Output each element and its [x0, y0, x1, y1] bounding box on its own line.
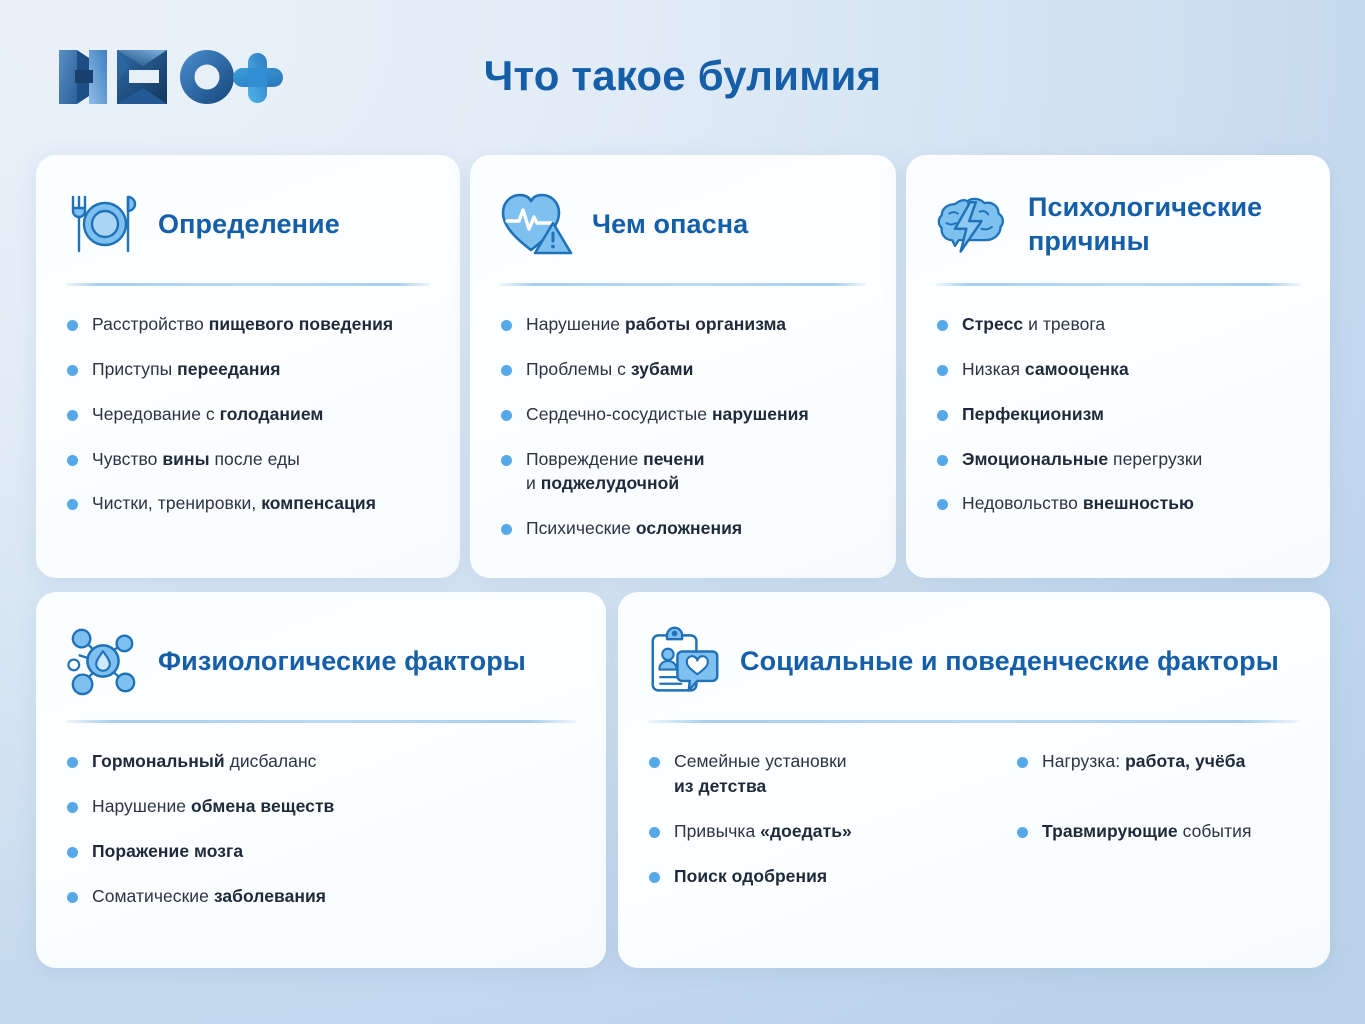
bullet-list: Расстройство пищевого поведения Приступы… [36, 286, 460, 516]
card-social: Социальные и поведенческие факторы Семей… [618, 592, 1330, 968]
bullet-bold: голоданием [220, 404, 324, 424]
bullet-bold: работы организма [625, 314, 786, 334]
bullet-list: Нарушение работы организма Проблемы с зу… [470, 286, 896, 541]
bullet-bold: обмена веществ [191, 796, 334, 816]
list-item: Соматические заболевания [64, 884, 578, 909]
bullet-text: Семейные установки [674, 751, 847, 771]
card-title: Физиологические факторы [158, 644, 526, 678]
list-item: Сердечно-сосудистые нарушения [498, 402, 868, 427]
bullet-list: Гормональный дисбаланс Нарушение обмена … [36, 723, 606, 908]
bullet-text: Низкая [962, 359, 1025, 379]
list-item: Поиск одобрения [646, 864, 1006, 889]
list-item: Приступы переедания [64, 357, 432, 382]
card-header: Физиологические факторы [36, 592, 606, 698]
card-title: Социальные и поведенческие факторы [740, 644, 1279, 678]
card-danger: Чем опасна Нарушение работы организма Пр… [470, 155, 896, 578]
list-item: Гормональный дисбаланс [64, 749, 578, 774]
page-header: Что такое булимия [0, 0, 1365, 140]
bullet-bold: Перфекционизм [962, 404, 1104, 424]
bullet-bold: Гормональный [92, 751, 225, 771]
bullet-text: Сердечно-сосудистые [526, 404, 712, 424]
brain-lightning-icon [936, 187, 1010, 261]
bullet-tail: дисбаланс [225, 751, 317, 771]
list-item: Травмирующие события [1014, 819, 1302, 844]
bullet-text: Чувство [92, 449, 162, 469]
list-item: Низкая самооценка [934, 357, 1302, 382]
bullet-text: Повреждение [526, 449, 643, 469]
card-header: Определение [36, 155, 460, 261]
bullet-text: Проблемы с [526, 359, 631, 379]
list-item: Семейные установкииз детства [646, 749, 1006, 799]
bullet-text: Соматические [92, 886, 214, 906]
bullet-bold: пищевого поведения [209, 314, 393, 334]
bullet-tail: и тревога [1023, 314, 1105, 334]
bullet-bold-line2: поджелудочной [541, 473, 679, 493]
page-title: Что такое булимия [0, 52, 1365, 100]
bullet-bold: компенсация [261, 493, 376, 513]
bullet-text: Чередование с [92, 404, 220, 424]
card-title: Чем опасна [592, 207, 748, 242]
bullet-list: Стресс и тревога Низкая самооценка Перфе… [906, 286, 1330, 516]
bullet-text-line2: и [526, 473, 541, 493]
bullet-text: Нагрузка: [1042, 751, 1125, 771]
card-physio: Физиологические факторы Гормональный дис… [36, 592, 606, 968]
bullet-bold: зубами [631, 359, 694, 379]
bullet-text: Расстройство [92, 314, 209, 334]
card-title: Определение [158, 207, 340, 242]
bullet-bold: переедания [177, 359, 280, 379]
bullet-bold: внешностью [1083, 493, 1194, 513]
bullet-bold: Поиск одобрения [674, 866, 827, 886]
bullet-bold: печени [643, 449, 704, 469]
list-item: Расстройство пищевого поведения [64, 312, 432, 337]
list-item: Перфекционизм [934, 402, 1302, 427]
plate-fork-knife-icon [66, 187, 140, 261]
card-definition: Определение Расстройство пищевого поведе… [36, 155, 460, 578]
heart-pulse-warning-icon [500, 187, 574, 261]
list-item: Чередование с голоданием [64, 402, 432, 427]
bullet-text: Привычка [674, 821, 760, 841]
card-header: Социальные и поведенческие факторы [618, 592, 1330, 698]
list-item: Нарушение работы организма [498, 312, 868, 337]
clipboard-person-heart-icon [648, 624, 722, 698]
bullet-bold: Эмоциональные [962, 449, 1108, 469]
bullet-text: Приступы [92, 359, 177, 379]
bullet-bold: «доедать» [760, 821, 852, 841]
bullet-list: Семейные установкииз детства Нагрузка: р… [618, 723, 1330, 888]
bullet-bold: работа, учёба [1125, 751, 1245, 771]
list-item: Привычка «доедать» [646, 819, 1006, 844]
molecule-hormone-icon [66, 624, 140, 698]
bullet-text: Психические [526, 518, 636, 538]
card-psych: Психологические причины Стресс и тревога… [906, 155, 1330, 578]
list-item: Недовольство внешностью [934, 491, 1302, 516]
list-item: Стресс и тревога [934, 312, 1302, 337]
card-title: Психологические причины [1028, 190, 1300, 258]
bullet-tail: события [1178, 821, 1252, 841]
bullet-bold: Поражение мозга [92, 841, 243, 861]
bullet-text: Нарушение [92, 796, 191, 816]
list-item: Повреждение печении поджелудочной [498, 447, 868, 497]
card-header: Чем опасна [470, 155, 896, 261]
list-item: Чувство вины после еды [64, 447, 432, 472]
list-item: Проблемы с зубами [498, 357, 868, 382]
bullet-bold: нарушения [712, 404, 809, 424]
list-item: Эмоциональные перегрузки [934, 447, 1302, 472]
list-item: Чистки, тренировки, компенсация [64, 491, 432, 516]
bullet-bold-line2: из детства [674, 776, 766, 796]
bullet-bold: Стресс [962, 314, 1023, 334]
bullet-bold: вины [162, 449, 209, 469]
bullet-bold: самооценка [1025, 359, 1129, 379]
bullet-bold: Травмирующие [1042, 821, 1178, 841]
list-item: Поражение мозга [64, 839, 578, 864]
list-item: Нагрузка: работа, учёба [1014, 749, 1302, 774]
list-item: Нарушение обмена веществ [64, 794, 578, 819]
card-header: Психологические причины [906, 155, 1330, 261]
bullet-text: Чистки, тренировки, [92, 493, 261, 513]
list-item: Психические осложнения [498, 516, 868, 541]
bullet-bold: заболевания [214, 886, 326, 906]
bullet-tail: после еды [210, 449, 300, 469]
bullet-text: Недовольство [962, 493, 1083, 513]
bullet-bold: осложнения [636, 518, 742, 538]
bullet-text: Нарушение [526, 314, 625, 334]
bullet-tail: перегрузки [1108, 449, 1202, 469]
